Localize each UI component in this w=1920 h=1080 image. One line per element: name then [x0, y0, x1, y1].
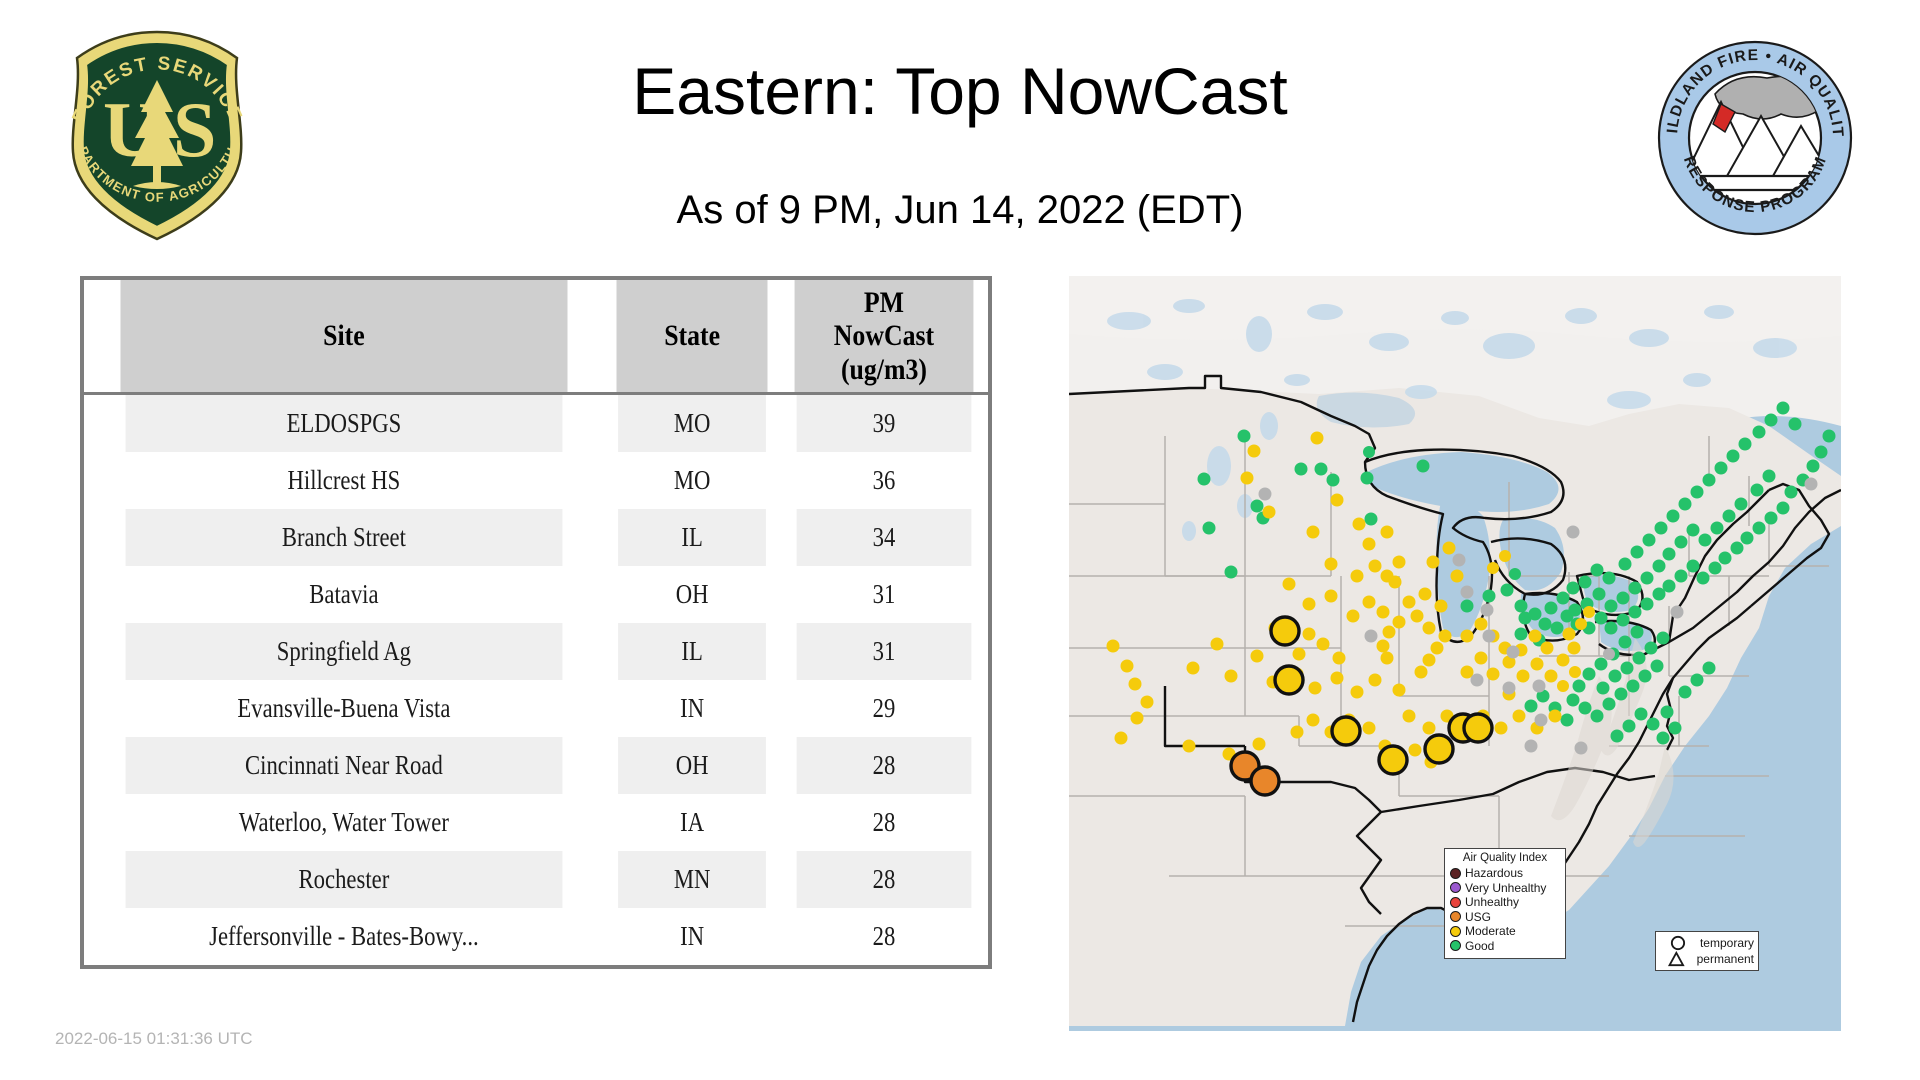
cell-site: Hillcrest HS	[126, 452, 563, 509]
page-title: Eastern: Top NowCast	[280, 58, 1640, 124]
air-quality-map[interactable]: Air Quality Index Hazardous Very Unhealt…	[1069, 276, 1841, 1031]
aqi-dot-usg	[1450, 911, 1461, 922]
column-header-site: Site	[120, 280, 567, 394]
aqi-label-good: Good	[1465, 940, 1494, 952]
cell-pm: 28	[797, 794, 972, 851]
top-site-marker[interactable]	[1275, 666, 1303, 694]
site-legend-label-permanent: permanent	[1697, 953, 1754, 965]
forest-service-shield-svg: U S FOREST SERVICE DEPARTMENT OF AGRICUL…	[55, 28, 260, 243]
cell-state: MN	[618, 851, 766, 908]
aqi-legend: Air Quality Index Hazardous Very Unhealt…	[1444, 848, 1566, 959]
table-row: ELDOSPGS MO 39	[84, 394, 988, 453]
aqi-dot-very-unhealthy	[1450, 882, 1461, 893]
table-header-row: Site State PM NowCast (ug/m3)	[84, 280, 988, 394]
top-site-marker[interactable]	[1425, 735, 1453, 763]
cell-state: IL	[618, 509, 766, 566]
cell-site: Rochester	[126, 851, 563, 908]
aqi-label-unhealthy: Unhealthy	[1465, 896, 1519, 908]
aqi-label-usg: USG	[1465, 911, 1491, 923]
cell-state: IN	[618, 908, 766, 965]
top-site-marker[interactable]	[1379, 746, 1407, 774]
aqi-dot-moderate	[1450, 926, 1461, 937]
cell-site: Cincinnati Near Road	[126, 737, 563, 794]
aqi-legend-row-hazardous: Hazardous	[1450, 866, 1560, 881]
table-header: Site State PM NowCast (ug/m3)	[84, 280, 988, 394]
table-row: Evansville-Buena Vista IN 29	[84, 680, 988, 737]
aqi-label-moderate: Moderate	[1465, 925, 1516, 937]
cell-site: Batavia	[126, 566, 563, 623]
column-header-pm-line1: PM	[795, 286, 974, 320]
cell-site: Jeffersonville - Bates-Bowy...	[126, 908, 563, 965]
cell-pm: 39	[797, 394, 972, 453]
site-type-legend: temporary permanent	[1655, 931, 1759, 971]
cell-pm: 36	[797, 452, 972, 509]
usda-forest-service-logo: U S FOREST SERVICE DEPARTMENT OF AGRICUL…	[55, 28, 260, 243]
aqi-legend-row-moderate: Moderate	[1450, 924, 1560, 939]
triangle-icon	[1660, 951, 1693, 967]
page-subtitle: As of 9 PM, Jun 14, 2022 (EDT)	[280, 188, 1640, 233]
aqi-legend-row-very-unhealthy: Very Unhealthy	[1450, 881, 1560, 896]
cell-state: IA	[618, 794, 766, 851]
top-site-marker[interactable]	[1271, 617, 1299, 645]
column-header-site-label: Site	[323, 319, 365, 352]
cell-state: IN	[618, 680, 766, 737]
table-row: Batavia OH 31	[84, 566, 988, 623]
table-row: Jeffersonville - Bates-Bowy... IN 28	[84, 908, 988, 965]
cell-state: IL	[618, 623, 766, 680]
top-site-marker[interactable]	[1464, 714, 1492, 742]
aqi-dot-unhealthy	[1450, 897, 1461, 908]
top-nowcast-table-container: Site State PM NowCast (ug/m3) ELDOSPGS M…	[80, 276, 992, 969]
circle-icon	[1660, 935, 1696, 951]
top-site-marker[interactable]	[1332, 717, 1360, 745]
aqi-dot-good	[1450, 940, 1461, 951]
column-header-state-label: State	[664, 319, 720, 352]
table-row: Cincinnati Near Road OH 28	[84, 737, 988, 794]
cell-pm: 34	[797, 509, 972, 566]
table-row: Springfield Ag IL 31	[84, 623, 988, 680]
table-row: Hillcrest HS MO 36	[84, 452, 988, 509]
wfaqrp-logo: WILDLAND FIRE • AIR QUALITY RESPONSE PRO…	[1655, 38, 1855, 238]
cell-site: Evansville-Buena Vista	[126, 680, 563, 737]
aqi-legend-row-usg: USG	[1450, 910, 1560, 925]
aqi-legend-title: Air Quality Index	[1450, 852, 1560, 864]
column-header-pm-line2: NowCast	[795, 319, 974, 353]
cell-pm: 31	[797, 566, 972, 623]
table-row: Rochester MN 28	[84, 851, 988, 908]
top-site-marker[interactable]	[1251, 767, 1279, 795]
table-body: ELDOSPGS MO 39 Hillcrest HS MO 36 Branch…	[84, 394, 988, 966]
cell-pm: 28	[797, 737, 972, 794]
aqi-label-very-unhealthy: Very Unhealthy	[1465, 882, 1546, 894]
cell-pm: 31	[797, 623, 972, 680]
table-row: Waterloo, Water Tower IA 28	[84, 794, 988, 851]
cell-site: Branch Street	[126, 509, 563, 566]
generation-timestamp: 2022-06-15 01:31:36 UTC	[55, 1029, 253, 1049]
cell-state: OH	[618, 566, 766, 623]
column-header-pm-line3: (ug/m3)	[795, 353, 974, 387]
cell-site: Waterloo, Water Tower	[126, 794, 563, 851]
cell-pm: 29	[797, 680, 972, 737]
column-header-pm-nowcast: PM NowCast (ug/m3)	[795, 280, 974, 394]
cell-state: MO	[618, 394, 766, 453]
aqi-legend-row-unhealthy: Unhealthy	[1450, 895, 1560, 910]
site-legend-label-temporary: temporary	[1700, 937, 1754, 949]
cell-pm: 28	[797, 851, 972, 908]
aqi-dot-hazardous	[1450, 868, 1461, 879]
site-legend-row-temporary: temporary	[1660, 935, 1754, 951]
cell-state: MO	[618, 452, 766, 509]
cell-site: ELDOSPGS	[126, 394, 563, 453]
cell-site: Springfield Ag	[126, 623, 563, 680]
aqi-legend-row-good: Good	[1450, 939, 1560, 954]
table-row: Branch Street IL 34	[84, 509, 988, 566]
cell-pm: 28	[797, 908, 972, 965]
top-nowcast-table: Site State PM NowCast (ug/m3) ELDOSPGS M…	[84, 280, 988, 965]
wfaqrp-roundel-svg: WILDLAND FIRE • AIR QUALITY RESPONSE PRO…	[1655, 38, 1855, 238]
column-header-state: State	[616, 280, 768, 394]
aqi-label-hazardous: Hazardous	[1465, 867, 1523, 879]
site-legend-row-permanent: permanent	[1660, 951, 1754, 967]
cell-state: OH	[618, 737, 766, 794]
